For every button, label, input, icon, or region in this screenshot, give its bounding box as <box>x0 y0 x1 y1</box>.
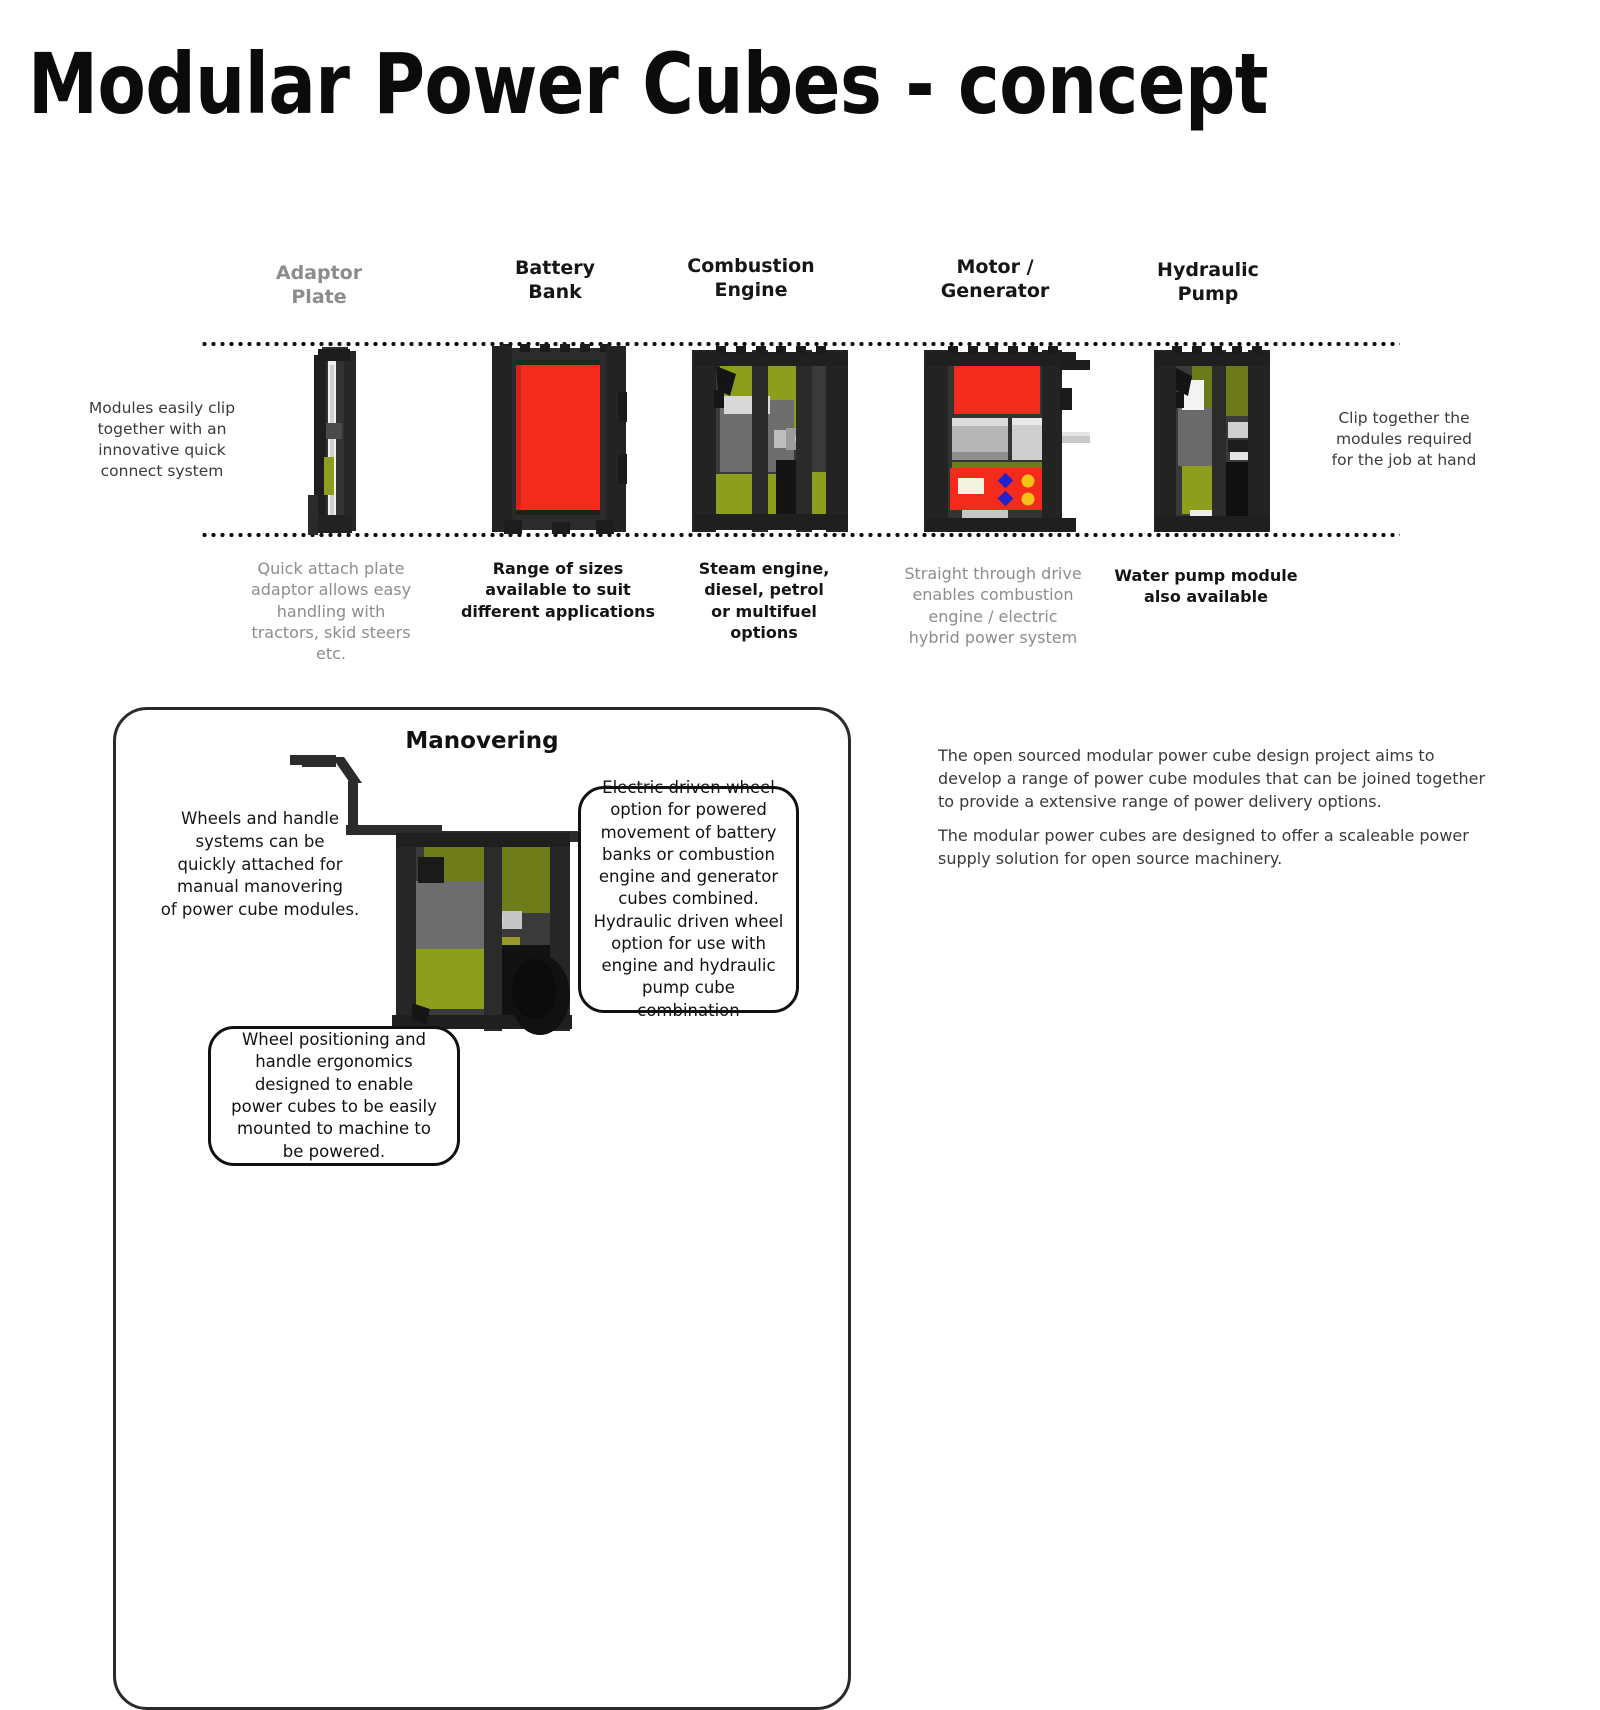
caption-line: options <box>676 622 852 643</box>
callout-line: engine and generator <box>593 866 784 888</box>
callout-line: cubes combined. <box>593 888 784 910</box>
caption-line: engine / electric <box>890 606 1096 627</box>
caption-adaptor-plate: Quick attach plate adaptor allows easy h… <box>236 558 426 664</box>
callout-line: Wheel positioning and <box>231 1029 437 1051</box>
column-heading-line2: Pump <box>1115 282 1301 306</box>
caption-motor-generator: Straight through drive enables combustio… <box>890 563 1096 648</box>
caption-line: handling with <box>236 601 426 622</box>
callout-line: engine and hydraulic <box>593 955 784 977</box>
page-title: Modular Power Cubes - concept <box>28 40 1423 128</box>
module-art-hydraulic-pump <box>1152 344 1274 536</box>
callout-line: designed to enable <box>231 1074 437 1096</box>
column-heading-line2: Bank <box>463 280 647 304</box>
manovering-title: Manovering <box>113 728 851 754</box>
note-right-clip-modules: Clip together the modules required for t… <box>1320 408 1488 471</box>
callout-electric-driven-wheel: Electric driven wheel option for powered… <box>578 786 799 1013</box>
caption-battery-bank: Range of sizes available to suit differe… <box>460 558 656 622</box>
description-paragraph-2: The modular power cubes are designed to … <box>938 824 1494 870</box>
callout-line: banks or combustion <box>593 844 784 866</box>
callout-line: pump cube combination <box>593 977 784 1022</box>
module-art-combustion-engine <box>690 344 852 536</box>
caption-hydraulic-pump: Water pump module also available <box>1110 565 1302 608</box>
callout-line: be powered. <box>231 1141 437 1163</box>
callout-line: movement of battery <box>593 822 784 844</box>
caption-line: adaptor allows easy <box>236 579 426 600</box>
caption-combustion-engine: Steam engine, diesel, petrol or multifue… <box>676 558 852 643</box>
note-line: together with an <box>76 419 248 440</box>
caption-line: different applications <box>460 601 656 622</box>
note-line: Modules easily clip <box>76 398 248 419</box>
column-heading-battery-bank: Battery Bank <box>463 256 647 305</box>
column-heading-hydraulic-pump: Hydraulic Pump <box>1115 258 1301 307</box>
caption-line: hybrid power system <box>890 627 1096 648</box>
caption-line: Range of sizes <box>460 558 656 579</box>
callout-line: option for use with <box>593 933 784 955</box>
callout-line: mounted to machine to <box>231 1118 437 1140</box>
column-heading-adaptor-plate: Adaptor Plate <box>224 261 414 310</box>
note-line: of power cube modules. <box>150 899 370 922</box>
column-heading-line1: Motor / <box>900 255 1090 279</box>
callout-line: Hydraulic driven wheel <box>593 911 784 933</box>
column-heading-line1: Combustion <box>652 254 850 278</box>
caption-line: or multifuel <box>676 601 852 622</box>
note-line: Wheels and handle <box>150 808 370 831</box>
caption-line: Water pump module <box>1110 565 1302 586</box>
caption-line: Quick attach plate <box>236 558 426 579</box>
column-heading-motor-generator: Motor / Generator <box>900 255 1090 304</box>
caption-line: tractors, skid steers <box>236 622 426 643</box>
column-heading-line2: Engine <box>652 278 850 302</box>
column-heading-line2: Plate <box>224 285 414 309</box>
module-art-battery-bank <box>490 344 628 536</box>
caption-line: Straight through drive <box>890 563 1096 584</box>
note-line: innovative quick <box>76 440 248 461</box>
caption-line: also available <box>1110 586 1302 607</box>
note-line: connect system <box>76 461 248 482</box>
caption-line: diesel, petrol <box>676 579 852 600</box>
column-heading-line2: Generator <box>900 279 1090 303</box>
note-line: modules required <box>1320 429 1488 450</box>
caption-line: etc. <box>236 643 426 664</box>
column-heading-line1: Hydraulic <box>1115 258 1301 282</box>
callout-line: power cubes to be easily <box>231 1096 437 1118</box>
note-line: systems can be <box>150 831 370 854</box>
column-heading-line1: Adaptor <box>224 261 414 285</box>
note-line: Clip together the <box>1320 408 1488 429</box>
caption-line: enables combustion <box>890 584 1096 605</box>
column-heading-combustion-engine: Combustion Engine <box>652 254 850 303</box>
manovering-left-note: Wheels and handle systems can be quickly… <box>150 808 370 922</box>
caption-line: available to suit <box>460 579 656 600</box>
callout-line: Electric driven wheel <box>593 777 784 799</box>
caption-line: Steam engine, <box>676 558 852 579</box>
note-left-clip-system: Modules easily clip together with an inn… <box>76 398 248 482</box>
note-line: quickly attached for <box>150 854 370 877</box>
module-art-adaptor-plate <box>300 345 370 537</box>
callout-wheel-positioning: Wheel positioning and handle ergonomics … <box>208 1026 460 1166</box>
description-paragraph-1: The open sourced modular power cube desi… <box>938 744 1486 814</box>
note-line: manual manovering <box>150 876 370 899</box>
callout-line: option for powered <box>593 799 784 821</box>
module-art-motor-generator <box>922 344 1094 536</box>
column-heading-line1: Battery <box>463 256 647 280</box>
note-line: for the job at hand <box>1320 450 1488 471</box>
callout-line: handle ergonomics <box>231 1051 437 1073</box>
